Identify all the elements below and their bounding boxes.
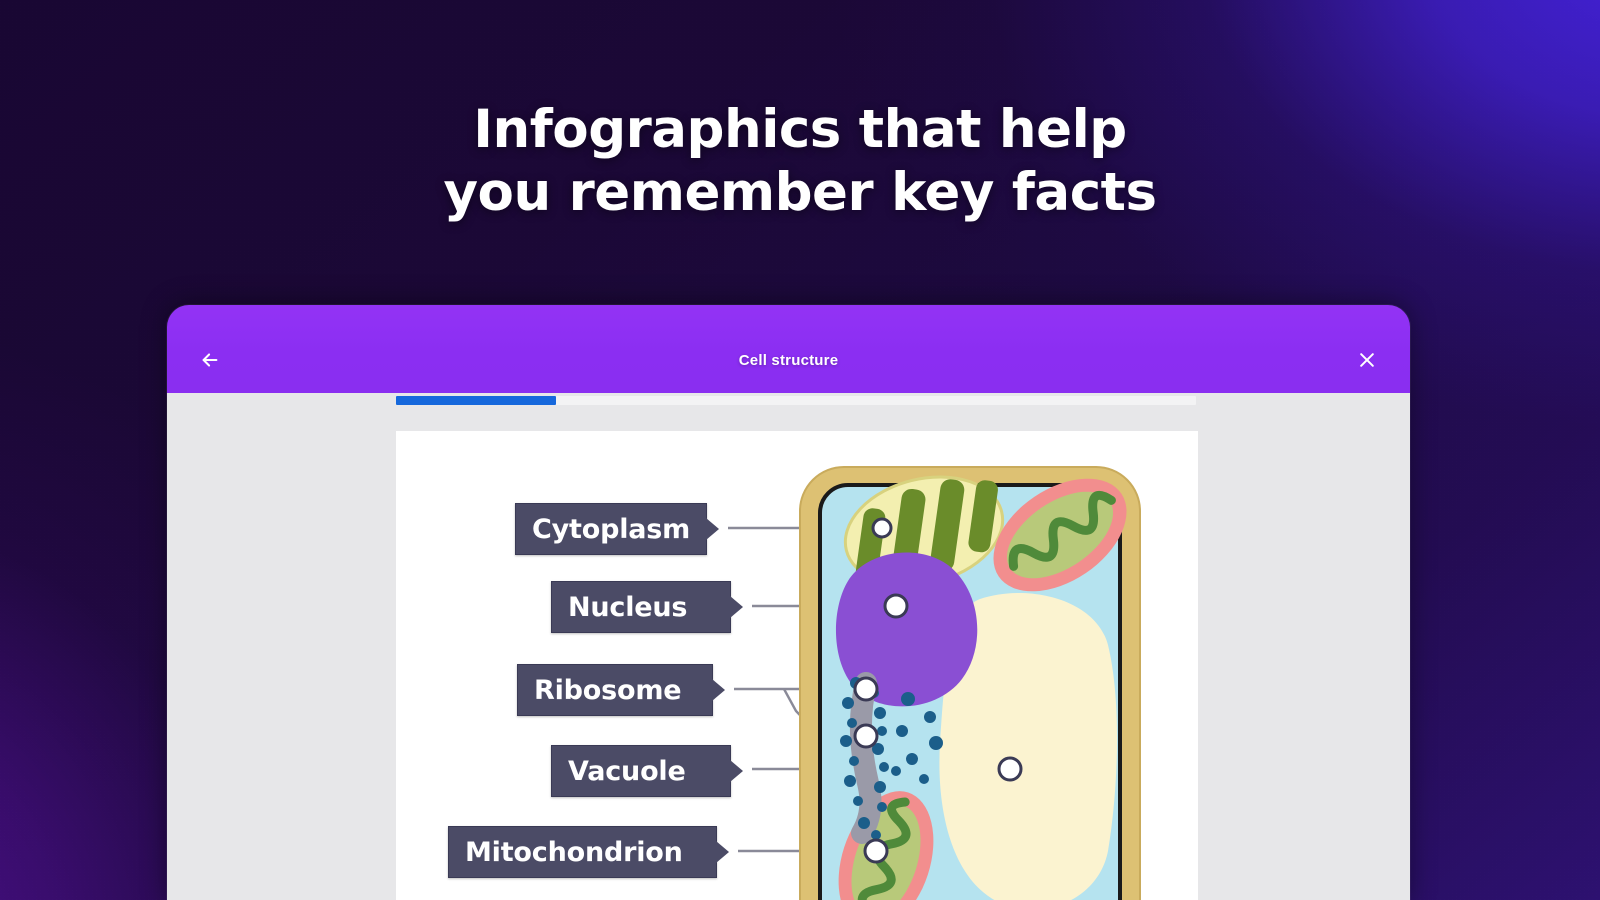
label-ribosome-text: Ribosome <box>534 675 681 706</box>
label-ribosome[interactable]: Ribosome <box>517 664 713 716</box>
label-mitochondrion-text: Mitochondrion <box>465 837 683 868</box>
arrow-left-icon[interactable] <box>193 343 227 377</box>
device-frame: Cell structure <box>167 305 1410 900</box>
page-headline: Infographics that help you remember key … <box>0 98 1600 224</box>
label-cytoplasm[interactable]: Cytoplasm <box>515 503 707 555</box>
headline-line-1: Infographics that help <box>0 98 1600 161</box>
endoplasmic-reticulum-shape <box>861 683 871 833</box>
content-card: Cytoplasm Nucleus Ribosome Vacuole Mitoc… <box>396 431 1198 900</box>
page-title: Cell structure <box>227 352 1350 369</box>
label-nucleus[interactable]: Nucleus <box>551 581 731 633</box>
progress-bar-fill <box>396 396 556 405</box>
label-cytoplasm-text: Cytoplasm <box>532 514 690 545</box>
screen-body: Cytoplasm Nucleus Ribosome Vacuole Mitoc… <box>167 393 1410 900</box>
cell-structure-infographic: Cytoplasm Nucleus Ribosome Vacuole Mitoc… <box>396 431 1198 900</box>
progress-bar-track <box>396 396 1196 405</box>
label-vacuole-text: Vacuole <box>568 756 686 787</box>
headline-line-2: you remember key facts <box>0 161 1600 224</box>
label-nucleus-text: Nucleus <box>568 592 687 623</box>
app-bar: Cell structure <box>167 305 1410 393</box>
label-mitochondrion[interactable]: Mitochondrion <box>448 826 717 878</box>
label-vacuole[interactable]: Vacuole <box>551 745 731 797</box>
close-icon[interactable] <box>1350 343 1384 377</box>
